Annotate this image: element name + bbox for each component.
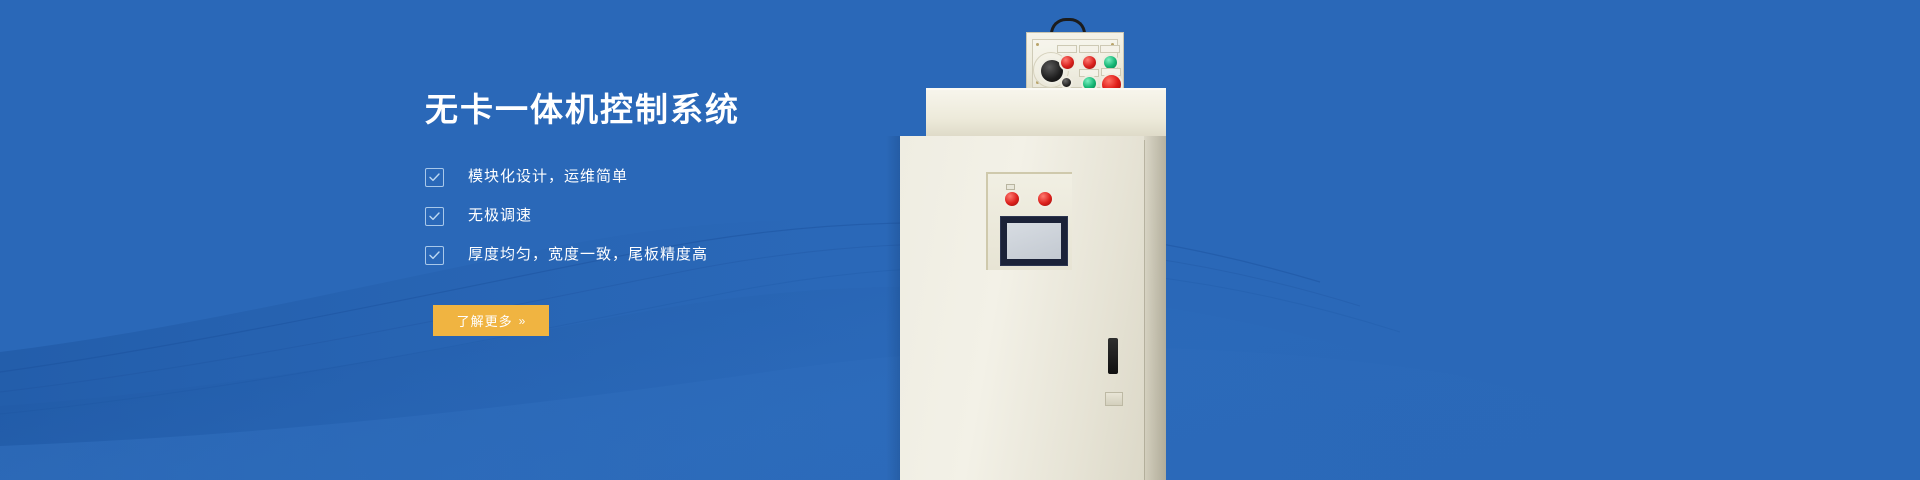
button-label-plate xyxy=(1100,45,1120,53)
cabinet-door-handle[interactable] xyxy=(1108,338,1118,374)
control-cabinet-photo xyxy=(900,0,1220,480)
cabinet-door-seam xyxy=(1144,140,1145,480)
hero-banner: 无卡一体机控制系统 模块化设计，运维简单 无极调速 xyxy=(0,0,1920,480)
hmi-touch-panel xyxy=(986,172,1072,270)
feature-label: 模块化设计，运维简单 xyxy=(468,166,628,188)
button-label-plate xyxy=(1079,45,1099,53)
chevron-right-icon: » xyxy=(519,314,526,328)
cabinet-lock-plate xyxy=(1105,392,1123,406)
feature-label: 厚度均匀，宽度一致，尾板精度高 xyxy=(468,244,708,266)
hmi-button-red-2[interactable] xyxy=(1036,190,1054,208)
check-box-icon xyxy=(425,168,444,187)
button-label-plate xyxy=(1057,45,1077,53)
check-box-icon xyxy=(425,207,444,226)
top-control-box xyxy=(1026,32,1124,94)
check-box-icon xyxy=(425,246,444,265)
feature-label: 无极调速 xyxy=(468,205,532,227)
hmi-button-red-1[interactable] xyxy=(1003,190,1021,208)
learn-more-button[interactable]: 了解更多 » xyxy=(433,305,549,336)
hmi-screen[interactable] xyxy=(1007,223,1061,259)
hmi-screen-bezel xyxy=(1000,216,1068,266)
screw-icon xyxy=(1036,43,1039,46)
cabinet-top-section xyxy=(926,90,1166,138)
learn-more-label: 了解更多 xyxy=(457,311,513,330)
button-red-1[interactable] xyxy=(1059,54,1076,71)
